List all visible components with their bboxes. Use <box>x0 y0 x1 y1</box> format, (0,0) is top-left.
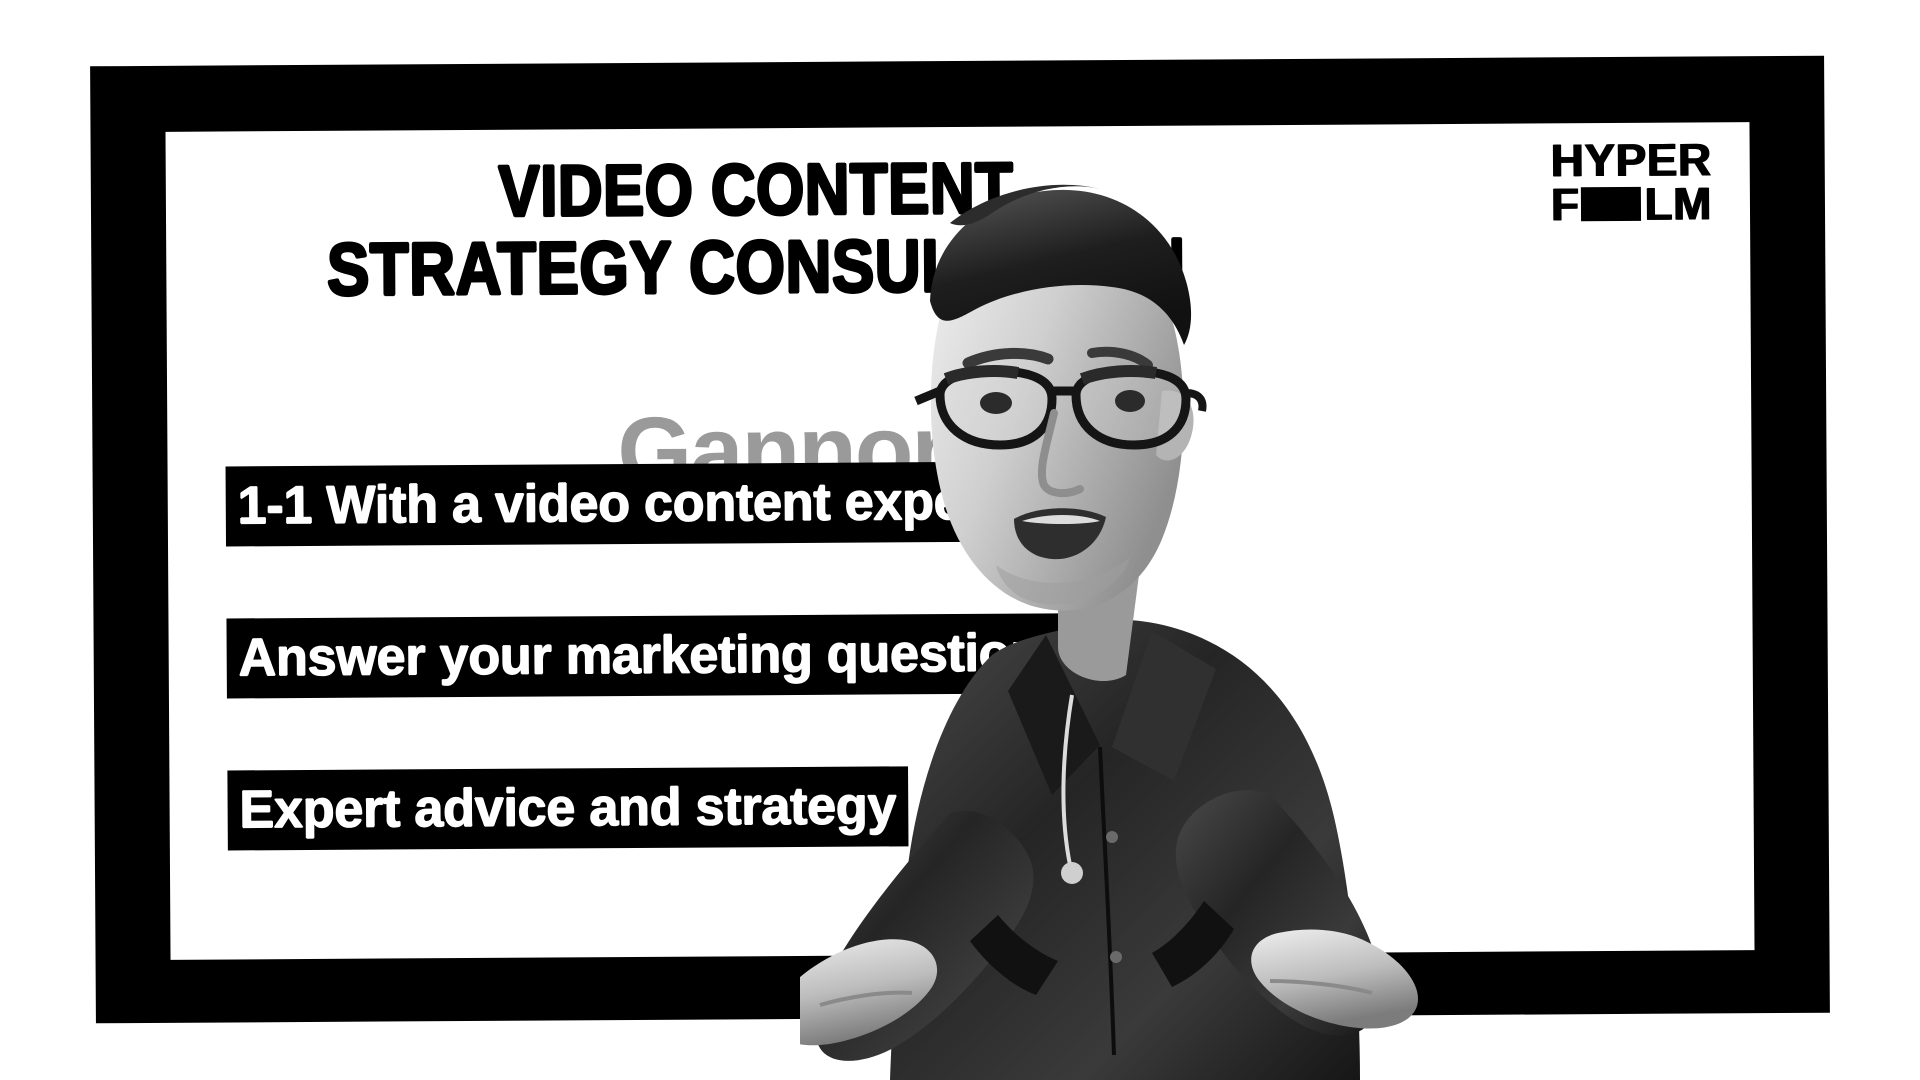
brand-logo: HYPER F LM <box>1551 138 1713 226</box>
list-item: Answer your marketing questions <box>226 613 1095 698</box>
film-block-icon <box>1580 187 1640 221</box>
bullet-highlight-3: Expert advice and strategy <box>227 766 908 850</box>
slide-canvas: VIDEO CONTENT STRATEGY CONSULTATION Gann… <box>0 0 1920 1080</box>
brand-logo-prefix: F <box>1551 184 1580 226</box>
bullet-list: 1-1 With a video content expert Answer y… <box>226 461 1097 850</box>
bullet-highlight-2: Answer your marketing questions <box>226 613 1082 698</box>
brand-logo-line-2: F LM <box>1551 183 1712 226</box>
brand-logo-suffix: LM <box>1644 183 1712 226</box>
page-title-line-2: STRATEGY CONSULTATION <box>249 228 1264 305</box>
brand-logo-line-1: HYPER <box>1551 138 1712 181</box>
list-item: 1-1 With a video content expert <box>226 461 1095 546</box>
list-item: Expert advice and strategy <box>227 765 1096 850</box>
page-title: VIDEO CONTENT STRATEGY CONSULTATION <box>166 153 1347 306</box>
bullet-highlight-1: 1-1 With a video content expert <box>226 462 1012 547</box>
page-title-line-1: VIDEO CONTENT <box>248 153 1263 228</box>
slide-card: VIDEO CONTENT STRATEGY CONSULTATION Gann… <box>165 122 1754 960</box>
